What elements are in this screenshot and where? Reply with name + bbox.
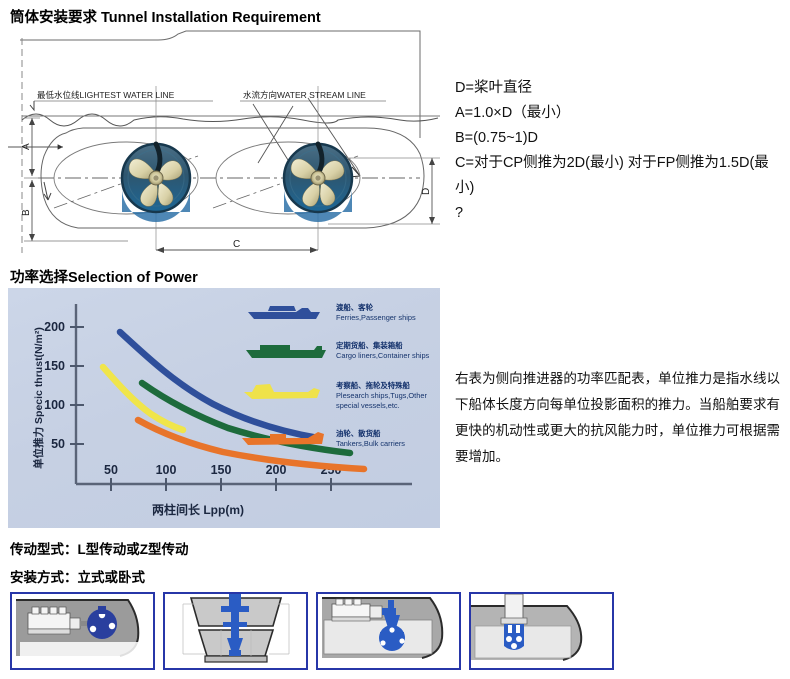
y-tick-150: 150 [44, 359, 65, 373]
x-tick-100: 100 [156, 463, 177, 477]
legend-label-en-cargo: Cargo liners,Container ships [336, 351, 430, 360]
x-tick-150: 150 [211, 463, 232, 477]
formula-line-query: ? [455, 201, 785, 226]
formula-list: D=桨叶直径 A=1.0×D（最小） B=(0.75~1)D C=对于CP侧推为… [455, 76, 785, 226]
dimension-c-label: C [233, 239, 240, 250]
drive-type-spec: 传动型式：L型传动或Z型传动 [10, 538, 189, 558]
thumbnail-horizontal-engine-thruster[interactable] [10, 592, 155, 670]
legend-label-en-tankers: Tankers,Bulk carriers [336, 439, 405, 448]
legend-item-cargo [246, 345, 326, 358]
formula-line-a: A=1.0×D（最小） [455, 101, 785, 126]
water-stream-line-label: 水流方向WATER STREAM LINE [243, 90, 366, 100]
thumbnail-vertical-l-drive-section[interactable] [163, 592, 308, 670]
vertical-drive-icon [501, 594, 527, 650]
dimension-b-label: B [21, 209, 32, 216]
dimension-a-label: A [21, 143, 32, 150]
formula-line-d: D=桨叶直径 [455, 76, 785, 101]
y-tick-200: 200 [44, 320, 65, 334]
installation-thumbnail-row [10, 592, 614, 670]
formula-line-c: C=对于CP侧推为2D(最小) 对于FP侧推为1.5D(最小) [455, 151, 785, 201]
legend-label-cn-research: 考察船、拖轮及特殊船 [336, 381, 411, 390]
tunnel-installation-heading: 筒体安装要求 Tunnel Installation Requirement [10, 6, 321, 27]
mount-type-spec: 安装方式：立式或卧式 [10, 566, 145, 586]
legend-label-en-research-2: special vessels,etc. [336, 401, 400, 410]
x-tick-200: 200 [266, 463, 287, 477]
y-tick-100: 100 [44, 398, 65, 412]
legend-label-en-research-1: Plesearch ships,Tugs,Other [336, 391, 427, 400]
power-description-paragraph: 右表为侧向推进器的功率匹配表，单位推力是指水线以下船体长度方向每单位投影面积的推… [455, 366, 780, 470]
x-axis-title: 两柱间长 Lpp(m) [152, 502, 244, 517]
chart-svg: 200 150 100 50 50 100 150 200 250 单位推力 S… [8, 288, 440, 528]
selection-of-power-heading: 功率选择Selection of Power [10, 266, 198, 287]
thumbnail-vertical-mount-thruster[interactable] [469, 592, 614, 670]
legend-label-cn-cargo: 定期货船、集装箱船 [336, 341, 403, 350]
x-tick-50: 50 [104, 463, 118, 477]
formula-line-b: B=(0.75~1)D [455, 126, 785, 151]
legend-label-cn-tankers: 油轮、散货船 [336, 429, 381, 438]
power-selection-chart: 200 150 100 50 50 100 150 200 250 单位推力 S… [8, 288, 440, 528]
thumbnail-engine-z-drive-thruster[interactable] [316, 592, 461, 670]
dimension-d-label: D [421, 188, 432, 195]
tunnel-installation-drawing: 最低水位线LIGHTEST WATER LINE 水流方向WATER STREA… [8, 28, 440, 260]
legend-item-ferries [248, 306, 320, 319]
y-tick-50: 50 [51, 437, 65, 451]
legend-item-research [244, 384, 320, 399]
y-axis-title: 单位推力 Specic thrust(N/m²) [32, 327, 45, 469]
legend-label-en-ferries: Ferries,Passenger ships [336, 313, 416, 322]
legend-label-cn-ferries: 渡船、客轮 [336, 303, 374, 312]
lightest-water-line-label: 最低水位线LIGHTEST WATER LINE [37, 90, 175, 100]
